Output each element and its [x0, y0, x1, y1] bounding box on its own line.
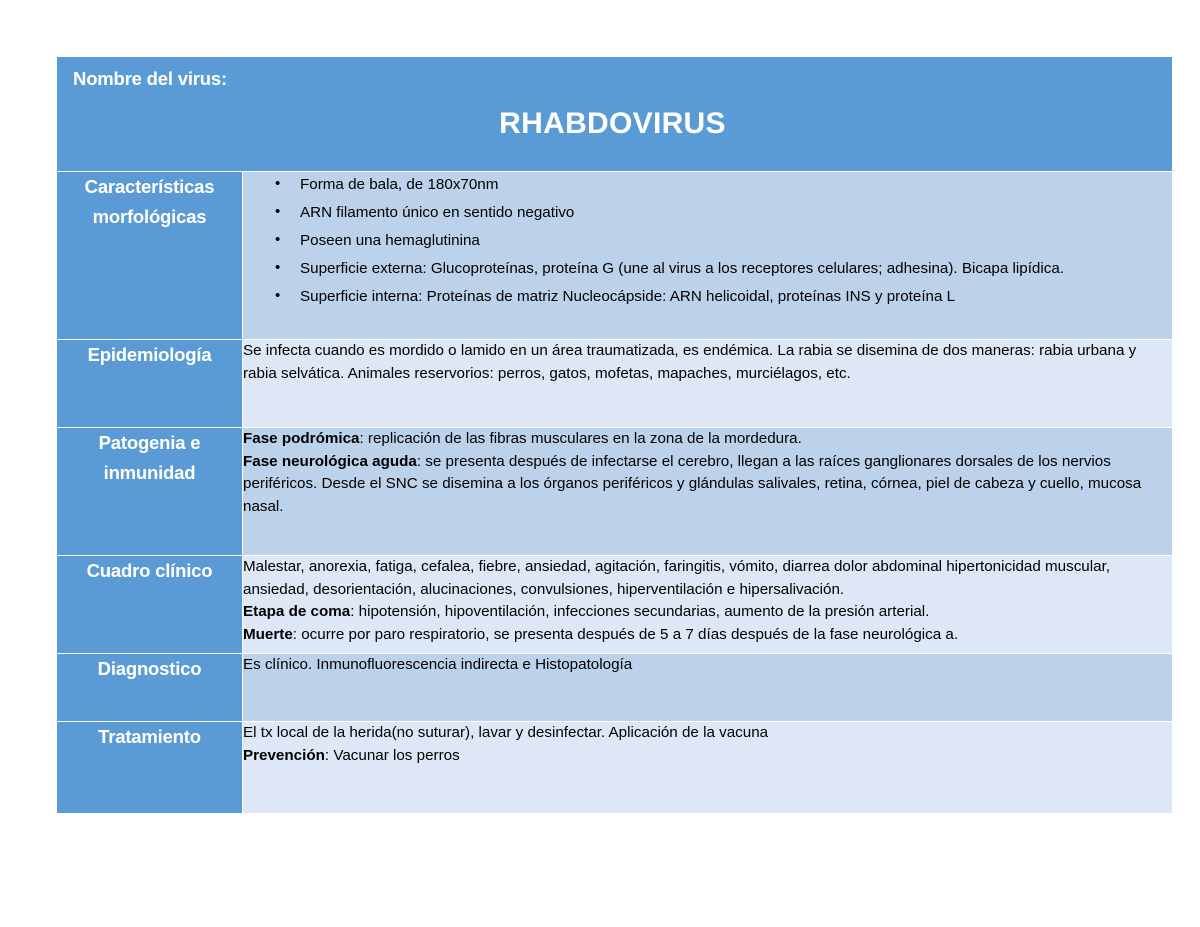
row-content-diagnostico: Es clínico. Inmunofluorescencia indirect…	[243, 654, 1173, 722]
paragraph-text: Malestar, anorexia, fatiga, cefalea, fie…	[243, 558, 1110, 598]
paragraph-text: : Vacunar los perros	[325, 747, 460, 764]
paragraph: Muerte: ocurre por paro respiratorio, se…	[243, 624, 1172, 647]
row-label-epidemiologia: Epidemiología	[57, 340, 243, 428]
paragraph: Se infecta cuando es mordido o lamido en…	[243, 340, 1172, 385]
row-content-epidemiologia: Se infecta cuando es mordido o lamido en…	[243, 340, 1173, 428]
paragraph-lead: Fase podrómica	[243, 430, 359, 447]
paragraph-text: Es clínico. Inmunofluorescencia indirect…	[243, 656, 632, 673]
table-row: Cuadro clínico Malestar, anorexia, fatig…	[57, 556, 1173, 654]
paragraph-lead: Etapa de coma	[243, 603, 350, 620]
paragraph-text: : hipotensión, hipoventilación, infeccio…	[350, 603, 929, 620]
list-item: Poseen una hemaglutinina	[243, 228, 1172, 253]
row-label-tratamiento: Tratamiento	[57, 722, 243, 814]
paragraph: Etapa de coma: hipotensión, hipoventilac…	[243, 601, 1172, 624]
row-content-cuadro-clinico: Malestar, anorexia, fatiga, cefalea, fie…	[243, 556, 1173, 654]
list-item: Superficie externa: Glucoproteínas, prot…	[243, 256, 1172, 281]
paragraph-text: Se infecta cuando es mordido o lamido en…	[243, 342, 1136, 382]
row-label-caracteristicas-morfologicas: Características morfológicas	[57, 172, 243, 340]
list-item: Superficie interna: Proteínas de matriz …	[243, 284, 1172, 309]
list-item: Forma de bala, de 180x70nm	[243, 172, 1172, 197]
header-row-label: Nombre del virus:	[57, 57, 243, 92]
header-cell: Nombre del virus: RHABDOVIRUS	[57, 57, 1173, 172]
table-row: Epidemiología Se infecta cuando es mordi…	[57, 340, 1173, 428]
paragraph-lead: Muerte	[243, 626, 293, 643]
paragraph: Malestar, anorexia, fatiga, cefalea, fie…	[243, 556, 1172, 601]
row-content-caracteristicas-morfologicas: Forma de bala, de 180x70nm ARN filamento…	[243, 172, 1173, 340]
paragraph-text: : ocurre por paro respiratorio, se prese…	[293, 626, 958, 643]
row-label-patogenia-e-inmunidad: Patogenia e inmunidad	[57, 428, 243, 556]
table-row: Patogenia e inmunidad Fase podrómica: re…	[57, 428, 1173, 556]
list-item: ARN filamento único en sentido negativo	[243, 200, 1172, 225]
paragraph-lead: Fase neurológica aguda	[243, 453, 417, 470]
paragraph: Fase podrómica: replicación de las fibra…	[243, 428, 1172, 451]
paragraph-text: El tx local de la herida(no suturar), la…	[243, 724, 768, 741]
table-row: Características morfológicas Forma de ba…	[57, 172, 1173, 340]
document-page: Nombre del virus: RHABDOVIRUS Caracterís…	[0, 0, 1200, 927]
row-label-diagnostico: Diagnostico	[57, 654, 243, 722]
paragraph: Es clínico. Inmunofluorescencia indirect…	[243, 654, 1172, 677]
row-content-tratamiento: El tx local de la herida(no suturar), la…	[243, 722, 1173, 814]
virus-name-title: RHABDOVIRUS	[243, 57, 1172, 141]
table-row: Diagnostico Es clínico. Inmunofluorescen…	[57, 654, 1173, 722]
morphology-bullet-list: Forma de bala, de 180x70nm ARN filamento…	[243, 172, 1172, 309]
table-row: Tratamiento El tx local de la herida(no …	[57, 722, 1173, 814]
table-header-row: Nombre del virus: RHABDOVIRUS	[57, 57, 1173, 172]
paragraph: El tx local de la herida(no suturar), la…	[243, 722, 1172, 745]
paragraph-text: : replicación de las fibras musculares e…	[359, 430, 801, 447]
paragraph: Prevención: Vacunar los perros	[243, 745, 1172, 768]
virus-summary-table: Nombre del virus: RHABDOVIRUS Caracterís…	[56, 56, 1173, 814]
row-content-patogenia-e-inmunidad: Fase podrómica: replicación de las fibra…	[243, 428, 1173, 556]
paragraph: Fase neurológica aguda: se presenta desp…	[243, 451, 1172, 519]
paragraph-lead: Prevención	[243, 747, 325, 764]
row-label-cuadro-clinico: Cuadro clínico	[57, 556, 243, 654]
